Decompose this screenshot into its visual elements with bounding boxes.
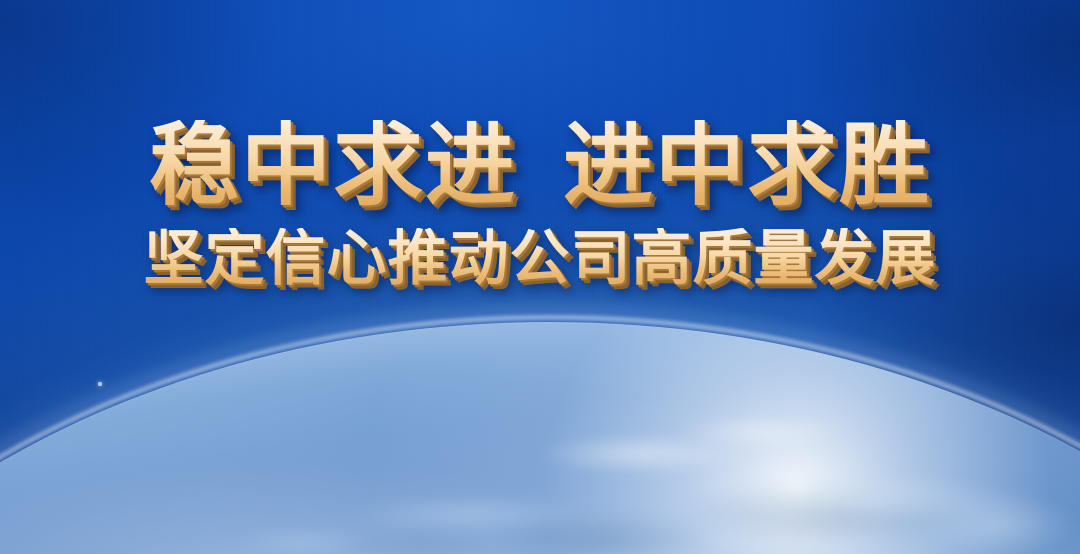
page-title-part-2: 进中求胜 bbox=[563, 113, 931, 218]
earth-scene bbox=[0, 274, 1080, 554]
page-title-part-1: 稳中求进 bbox=[149, 113, 517, 218]
headline-block: 稳中求进进中求胜 坚定信心推动公司高质量发展 bbox=[0, 120, 1080, 290]
atmosphere-rim-icon bbox=[0, 316, 1080, 554]
page-title: 稳中求进进中求胜 bbox=[0, 120, 1080, 212]
page-subtitle: 坚定信心推动公司高质量发展 bbox=[0, 228, 1080, 290]
promo-banner: 稳中求进进中求胜 坚定信心推动公司高质量发展 bbox=[0, 0, 1080, 554]
